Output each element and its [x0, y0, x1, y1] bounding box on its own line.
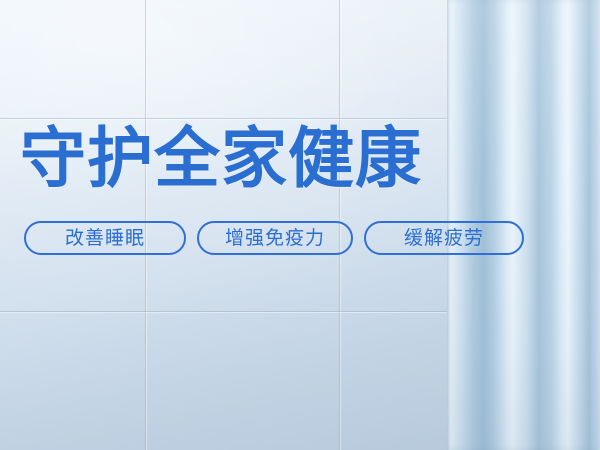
feature-tag-row: 改善睡眠 增强免疫力 缓解疲劳 [24, 221, 524, 255]
feature-tag-relieve-fatigue[interactable]: 缓解疲劳 [364, 221, 524, 255]
feature-tag-improve-sleep[interactable]: 改善睡眠 [24, 221, 186, 255]
page-title: 守护全家健康 [20, 121, 422, 195]
feature-tag-boost-immunity[interactable]: 增强免疫力 [197, 221, 353, 255]
banner-canvas: 守护全家健康 改善睡眠 增强免疫力 缓解疲劳 [0, 0, 600, 450]
banner-content: 守护全家健康 改善睡眠 增强免疫力 缓解疲劳 [0, 0, 600, 450]
